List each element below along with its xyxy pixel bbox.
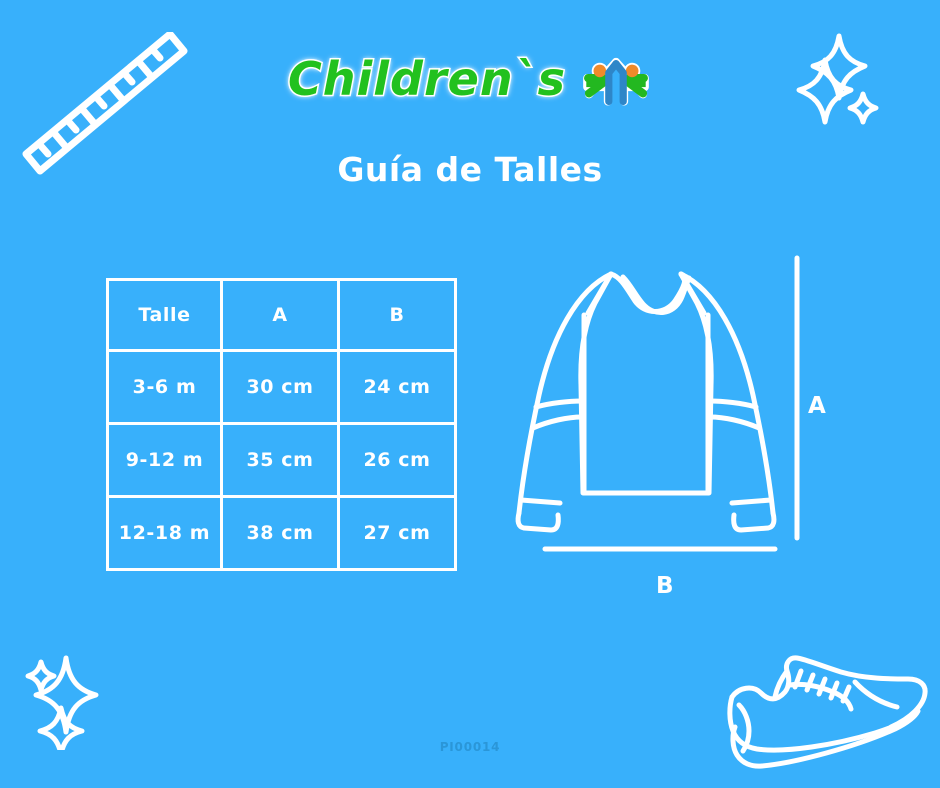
size-guide-page: Children`s (0, 0, 940, 788)
product-code: PI00014 (0, 740, 940, 754)
sneaker-icon (715, 635, 930, 784)
cell-talle: 3-6 m (108, 351, 222, 424)
cell-b: 26 cm (339, 424, 456, 497)
cell-a: 35 cm (222, 424, 339, 497)
garment-diagram (495, 245, 875, 615)
two-children-figures-icon (580, 51, 652, 107)
sparkles-icon (15, 640, 125, 754)
column-header-a: A (222, 280, 339, 351)
brand-name: Children`s (288, 56, 566, 102)
cell-talle: 12-18 m (108, 497, 222, 570)
page-title: Guía de Talles (0, 150, 940, 189)
cell-a: 30 cm (222, 351, 339, 424)
column-header-talle: Talle (108, 280, 222, 351)
size-table: Talle A B 3-6 m 30 cm 24 cm 9-12 m 35 cm… (106, 278, 457, 571)
cell-b: 24 cm (339, 351, 456, 424)
measure-a-label: A (808, 393, 826, 419)
long-sleeve-raglan-sweater-icon (518, 274, 774, 530)
table-row: 12-18 m 38 cm 27 cm (108, 497, 456, 570)
table-header-row: Talle A B (108, 280, 456, 351)
column-header-b: B (339, 280, 456, 351)
table-row: 9-12 m 35 cm 26 cm (108, 424, 456, 497)
measure-b-label: B (656, 573, 674, 599)
brand-header: Children`s (0, 48, 940, 110)
cell-b: 27 cm (339, 497, 456, 570)
table-row: 3-6 m 30 cm 24 cm (108, 351, 456, 424)
cell-talle: 9-12 m (108, 424, 222, 497)
cell-a: 38 cm (222, 497, 339, 570)
